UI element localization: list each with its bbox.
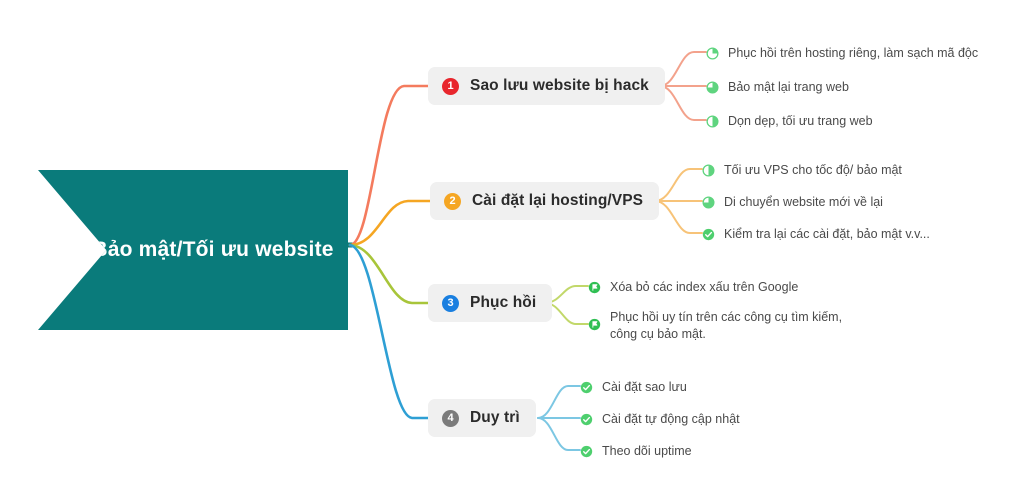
leaf-item-1-1[interactable]: Phục hồi trên hosting riêng, làm sạch mã…	[706, 45, 978, 62]
leaf-wire-4-1	[538, 386, 580, 418]
leaf-item-2-3[interactable]: Kiểm tra lại các cài đặt, bảo mật v.v...	[702, 226, 930, 243]
leaf-item-3-2[interactable]: Phục hồi uy tín trên các công cụ tìm kiế…	[588, 309, 842, 344]
leaf-item-4-3[interactable]: Theo dõi uptime	[580, 443, 692, 460]
branch-node-4[interactable]: 4 Duy trì	[428, 399, 536, 437]
branch-badge-2: 2	[444, 193, 461, 210]
leaf-label-4-1: Cài đặt sao lưu	[602, 379, 687, 396]
branch-badge-1: 1	[442, 78, 459, 95]
mindmap-canvas: Bảo mật/Tối ưu website 1 Sao lưu website…	[0, 0, 1024, 504]
pie-three-quarter-icon	[706, 81, 719, 94]
leaf-item-4-2[interactable]: Cài đặt tự động cập nhật	[580, 411, 740, 428]
leaf-label-2-1: Tối ưu VPS cho tốc độ/ bảo mật	[724, 162, 902, 179]
branch-label-2: Cài đặt lại hosting/VPS	[472, 192, 643, 210]
branch-wire-1	[350, 86, 428, 245]
flag-circle-icon	[588, 318, 601, 331]
pie-half-icon	[706, 115, 719, 128]
branch-wire-2	[350, 201, 430, 245]
leaf-wire-2-3	[655, 201, 702, 233]
branch-node-1[interactable]: 1 Sao lưu website bị hack	[428, 67, 665, 105]
leaf-label-1-2: Bảo mật lại trang web	[728, 79, 849, 96]
pie-quarter-icon	[706, 47, 719, 60]
leaf-wire-1-3	[660, 86, 706, 120]
check-circle-icon	[702, 228, 715, 241]
pie-half-icon	[702, 164, 715, 177]
branch-badge-3: 3	[442, 295, 459, 312]
leaf-item-4-1[interactable]: Cài đặt sao lưu	[580, 379, 687, 396]
leaf-item-1-3[interactable]: Dọn dẹp, tối ưu trang web	[706, 113, 873, 130]
leaf-label-3-2: Phục hồi uy tín trên các công cụ tìm kiế…	[610, 309, 842, 344]
branch-label-1: Sao lưu website bị hack	[470, 77, 649, 95]
branch-label-3: Phục hồi	[470, 294, 536, 312]
branch-badge-4: 4	[442, 410, 459, 427]
leaf-label-4-2: Cài đặt tự động cập nhật	[602, 411, 740, 428]
leaf-wire-4-3	[538, 418, 580, 450]
branch-wire-3	[350, 245, 428, 303]
check-circle-icon	[580, 413, 593, 426]
leaf-label-1-3: Dọn dẹp, tối ưu trang web	[728, 113, 873, 130]
central-node[interactable]: Bảo mật/Tối ưu website	[38, 170, 348, 330]
leaf-wire-1-1	[660, 52, 706, 86]
branch-label-4: Duy trì	[470, 409, 520, 427]
pie-three-quarter-icon	[702, 196, 715, 209]
branch-wire-4	[350, 245, 428, 418]
leaf-item-2-1[interactable]: Tối ưu VPS cho tốc độ/ bảo mật	[702, 162, 902, 179]
branch-node-2[interactable]: 2 Cài đặt lại hosting/VPS	[430, 182, 659, 220]
leaf-item-3-1[interactable]: Xóa bỏ các index xấu trên Google	[588, 279, 798, 296]
branch-node-3[interactable]: 3 Phục hồi	[428, 284, 552, 322]
check-circle-icon	[580, 445, 593, 458]
leaf-label-2-2: Di chuyển website mới về lại	[724, 194, 883, 211]
flag-circle-icon	[588, 281, 601, 294]
leaf-wire-2-1	[655, 169, 702, 201]
leaf-label-3-1: Xóa bỏ các index xấu trên Google	[610, 279, 798, 296]
leaf-item-1-2[interactable]: Bảo mật lại trang web	[706, 79, 849, 96]
leaf-label-2-3: Kiểm tra lại các cài đặt, bảo mật v.v...	[724, 226, 930, 243]
leaf-label-4-3: Theo dõi uptime	[602, 443, 692, 460]
check-circle-icon	[580, 381, 593, 394]
central-node-label: Bảo mật/Tối ưu website	[44, 236, 341, 264]
leaf-label-1-1: Phục hồi trên hosting riêng, làm sạch mã…	[728, 45, 978, 62]
leaf-item-2-2[interactable]: Di chuyển website mới về lại	[702, 194, 883, 211]
